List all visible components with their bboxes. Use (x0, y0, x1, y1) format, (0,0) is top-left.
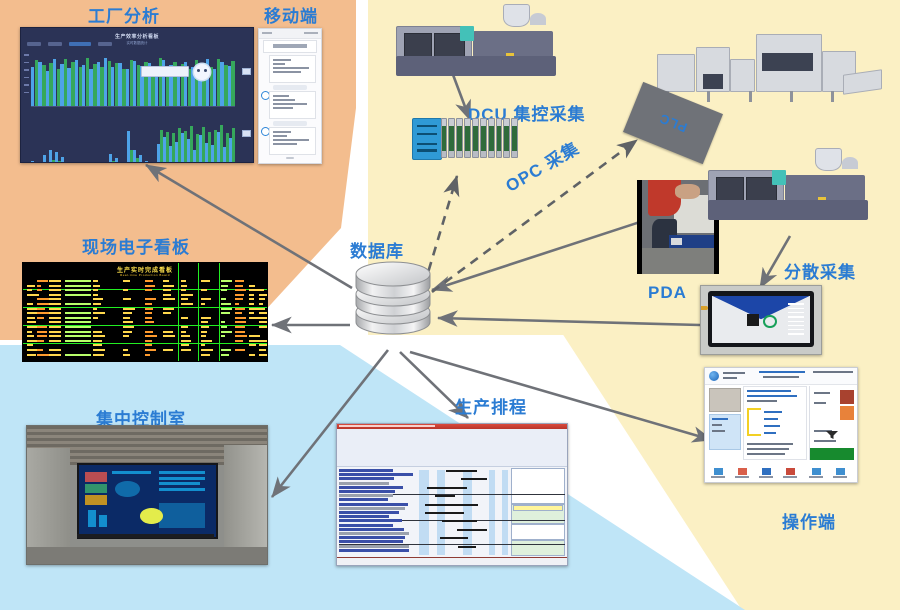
table-row[interactable] (339, 524, 393, 527)
board-cell (221, 331, 232, 333)
gantt-highlight-row (513, 505, 563, 511)
toolbar-icon[interactable] (711, 468, 725, 480)
board-cell (181, 317, 188, 319)
board-cell (93, 312, 105, 314)
board-cell (145, 321, 154, 323)
submit-button[interactable] (810, 448, 854, 460)
board-cell (145, 280, 153, 282)
board-cell (181, 340, 191, 342)
board-cell (201, 349, 213, 351)
board-cell (181, 289, 186, 291)
board-cell (65, 317, 91, 319)
board-cell (221, 289, 227, 291)
board-cell (163, 349, 173, 351)
qr-code-icon (747, 314, 759, 326)
board-cell (235, 349, 245, 351)
gantt-detail-table[interactable] (511, 468, 565, 504)
board-cell (49, 285, 61, 287)
board-cell (235, 303, 239, 305)
board-cell (49, 312, 61, 314)
gantt-shift-band (463, 470, 472, 555)
machine-warning-light (506, 53, 514, 56)
board-cell (93, 285, 100, 287)
board-cell (93, 331, 102, 333)
board-cell (259, 344, 267, 346)
board-cell (123, 354, 130, 356)
plc-label: PLC (657, 111, 690, 136)
table-row[interactable] (339, 540, 403, 543)
board-cell (93, 340, 102, 342)
board-cell (221, 303, 231, 305)
part-photo (709, 388, 741, 412)
machine-window (716, 177, 744, 202)
board-cell (123, 317, 130, 319)
board-cell (259, 294, 268, 296)
table-row[interactable] (339, 536, 405, 539)
board-cell (93, 344, 102, 346)
board-cell (93, 308, 97, 310)
table-row[interactable] (339, 545, 409, 548)
phone-time-chip (273, 85, 307, 90)
board-cell (249, 294, 254, 296)
toolbar-icon[interactable] (759, 468, 773, 480)
board-cell (93, 303, 101, 305)
board-cell (201, 335, 206, 337)
board-cell (181, 326, 188, 328)
list-item[interactable] (269, 55, 316, 83)
focus-bracket-icon (747, 408, 761, 436)
board-cell (163, 335, 175, 337)
machine-base (708, 200, 868, 220)
label-electronic-board: 现场电子看板 (82, 233, 190, 258)
board-cell (259, 349, 266, 351)
bar-group (169, 52, 176, 106)
board-cell (235, 317, 246, 319)
board-cell (221, 321, 225, 323)
phone-nav-bar[interactable] (263, 40, 317, 53)
board-cell (37, 331, 47, 333)
board-cell (235, 298, 243, 300)
board-column-line (219, 263, 220, 361)
table-row[interactable] (339, 519, 402, 522)
board-cell (37, 317, 44, 319)
board-cell (235, 294, 244, 296)
board-cell (181, 298, 188, 300)
board-cell (27, 303, 33, 305)
operator-terminal-window[interactable] (704, 367, 858, 483)
hopper-icon (503, 4, 531, 27)
electronic-board-screen: 生产实时完成看板 Real-time Production Board (22, 262, 268, 362)
list-item[interactable] (269, 127, 316, 155)
board-cell (123, 335, 129, 337)
board-cell (235, 326, 245, 328)
bar-group (220, 52, 227, 106)
board-cell (65, 303, 91, 305)
board-cell (221, 298, 226, 300)
board-cell (27, 331, 32, 333)
board-cell (249, 344, 256, 346)
board-cell (145, 285, 155, 287)
gantt-task-bar[interactable] (442, 520, 477, 522)
board-cell (235, 340, 243, 342)
board-cell (65, 321, 91, 323)
bar-group (104, 52, 111, 106)
board-cell (181, 331, 186, 333)
diagram-canvas: 工厂分析 移动端 现场电子看板 集中控制室 数据库 DCU 集控采集 OPC 采… (0, 0, 900, 610)
production-schedule-window[interactable] (336, 423, 568, 566)
board-cell (49, 280, 61, 282)
table-row[interactable] (339, 503, 408, 506)
toolbar-icon[interactable] (833, 468, 847, 480)
highlight-blob (140, 508, 163, 524)
bar-group (133, 52, 140, 106)
board-cell (145, 317, 152, 319)
board-cell (145, 349, 156, 351)
feeder-cone-icon (842, 157, 858, 169)
board-cell (49, 303, 61, 305)
dcu-io-slots (441, 118, 518, 158)
table-row[interactable] (339, 469, 393, 472)
label-mobile-terminal: 移动端 (264, 2, 318, 27)
table-row[interactable] (339, 477, 394, 480)
dashboard-mascot-icon (194, 64, 210, 80)
machine-base (396, 56, 556, 76)
bar-group (82, 52, 89, 106)
board-cell (49, 308, 61, 310)
bar-group (75, 52, 82, 106)
board-cell (49, 331, 61, 333)
gantt-task-bar[interactable] (435, 495, 455, 497)
board-cell (27, 308, 38, 310)
board-cell (27, 294, 39, 296)
board-cell (163, 289, 171, 291)
board-cell (65, 280, 91, 282)
table-row[interactable] (339, 490, 395, 493)
board-cell (37, 280, 48, 282)
board-cell (235, 331, 245, 333)
board-cell (249, 354, 255, 356)
table-row[interactable] (339, 486, 403, 489)
table-row[interactable] (339, 482, 389, 485)
board-cell (93, 289, 98, 291)
board-cell (123, 331, 132, 333)
phone-status-bar (259, 29, 321, 39)
gantt-task-bar[interactable] (461, 478, 487, 480)
board-cell (201, 354, 210, 356)
board-cell (201, 280, 210, 282)
pillar-right (224, 445, 267, 564)
board-column-line (178, 263, 179, 361)
gantt-task-bar[interactable] (440, 537, 468, 539)
hopper-icon (815, 148, 843, 171)
board-cell (163, 331, 173, 333)
board-cell (65, 340, 91, 342)
board-cell (249, 335, 260, 337)
board-cell (181, 280, 186, 282)
board-cell (201, 340, 212, 342)
board-cell (49, 321, 61, 323)
table-row[interactable] (339, 528, 404, 531)
board-cell (181, 294, 193, 296)
gantt-task-bar[interactable] (425, 512, 464, 514)
toolbar-icon[interactable] (735, 468, 749, 480)
board-cell (163, 298, 175, 300)
dashboard-legend-top[interactable] (242, 68, 251, 75)
board-cell (201, 317, 211, 319)
board-cell (37, 303, 49, 305)
gantt-summary-panel (511, 540, 565, 556)
board-cell (235, 335, 247, 337)
board-cell (65, 354, 91, 356)
board-cell (221, 335, 225, 337)
toolbar-icon[interactable] (809, 468, 823, 480)
distributed-collection-tablet[interactable] (700, 285, 822, 355)
tablet-screen[interactable] (712, 296, 809, 343)
board-cell (249, 308, 259, 310)
bar-group (38, 52, 45, 106)
table-row[interactable] (339, 532, 409, 535)
bar-group (177, 52, 184, 106)
label-factory-analysis: 工厂分析 (88, 2, 160, 27)
board-cell (259, 312, 268, 314)
board-cell (145, 303, 152, 305)
board-cell (259, 354, 268, 356)
board-cell (145, 312, 152, 314)
board-cell (259, 340, 268, 342)
board-cell (93, 298, 103, 300)
list-item[interactable] (269, 91, 316, 119)
data-table (159, 503, 206, 529)
board-cell (163, 308, 174, 310)
board-cell (65, 285, 91, 287)
board-cell (49, 298, 61, 300)
gantt-shift-band (489, 470, 495, 555)
bar-group (46, 52, 53, 106)
gantt-column-header (337, 459, 567, 467)
board-cell (163, 294, 171, 296)
board-cell (37, 308, 45, 310)
dashboard-subtitle: 实时数据统计 (127, 41, 148, 46)
toolbar-icon[interactable] (783, 468, 797, 480)
bar-group (53, 52, 60, 106)
board-cell (201, 321, 208, 323)
injection-machine-right (708, 162, 868, 220)
gantt-shift-band (502, 470, 508, 555)
gantt-task-bar[interactable] (458, 546, 476, 548)
gantt-info-panel (511, 524, 565, 540)
floor (27, 547, 267, 564)
board-cell (181, 335, 190, 337)
label-distributed-collection: 分散采集 (784, 258, 856, 283)
board-cell (65, 294, 91, 296)
board-cell (37, 326, 47, 328)
board-cell (249, 312, 254, 314)
gantt-task-bar[interactable] (427, 487, 467, 489)
board-cell (163, 312, 171, 314)
board-cell (37, 335, 47, 337)
board-cell (49, 294, 61, 296)
board-cell (37, 312, 49, 314)
kpi-card (85, 472, 107, 481)
board-cell (123, 298, 131, 300)
bar-group (67, 52, 74, 106)
globe-icon (709, 371, 719, 381)
board-cell (259, 303, 263, 305)
kpi-card (85, 484, 107, 493)
arrow-pda-to-db (432, 222, 640, 290)
board-cell (221, 354, 229, 356)
dashboard-legend-bottom[interactable] (242, 130, 251, 137)
machine-warning-light (818, 197, 826, 200)
bar-group (60, 52, 67, 106)
board-cell (37, 349, 43, 351)
board-cell (37, 354, 49, 356)
operator-header (705, 368, 857, 385)
board-cell (93, 349, 105, 351)
led-wall-stand (77, 534, 214, 538)
machine-hmi-panel (772, 170, 786, 185)
board-cell (49, 289, 61, 291)
board-cell (37, 340, 44, 342)
dashboard-chart-bottom (31, 120, 235, 163)
bar-group (97, 52, 104, 106)
board-cell (249, 340, 259, 342)
board-cell (259, 326, 267, 328)
table-row[interactable] (339, 549, 409, 552)
board-cell (235, 280, 244, 282)
board-cell (221, 312, 230, 314)
bar-group (89, 52, 96, 106)
board-cell (221, 349, 231, 351)
board-cell (65, 335, 91, 337)
avatar (840, 406, 854, 420)
board-cell (123, 326, 134, 328)
board-cell (93, 317, 98, 319)
board-cell (235, 312, 242, 314)
tablet-bezel (708, 291, 814, 347)
board-cell (145, 340, 152, 342)
handheld-pda-device (671, 238, 683, 245)
bar-group (162, 52, 169, 106)
board-cell (123, 308, 135, 310)
board-cell (145, 331, 153, 333)
board-cell (65, 326, 91, 328)
board-cell (201, 303, 205, 305)
board-cell (259, 321, 268, 323)
phone-app-title (273, 44, 307, 48)
phone-home-indicator (286, 157, 294, 159)
board-cell (27, 285, 35, 287)
factory-analysis-dashboard[interactable]: 生产效率分析看板 实时数据统计 (20, 27, 254, 163)
board-cell (49, 335, 61, 337)
table-row[interactable] (339, 473, 413, 476)
board-cell (145, 308, 153, 310)
board-cell (181, 344, 189, 346)
dcu-module-icon (412, 118, 518, 158)
machine-hmi-panel (460, 26, 474, 41)
board-cell (93, 354, 104, 356)
board-cell (259, 317, 267, 319)
machine-window (404, 33, 432, 58)
board-cell (259, 298, 265, 300)
board-cell (145, 298, 156, 300)
board-cell (27, 344, 33, 346)
board-cell (123, 321, 133, 323)
board-cell (163, 280, 169, 282)
board-cell (93, 294, 98, 296)
gantt-task-bar[interactable] (446, 470, 476, 472)
table-row[interactable] (339, 515, 389, 518)
control-room-photo (26, 425, 268, 565)
kpi-card (85, 495, 107, 504)
board-cell (163, 285, 174, 287)
mobile-terminal-screen[interactable] (258, 28, 322, 164)
feeder-cone-icon (530, 13, 546, 25)
board-cell (123, 289, 128, 291)
dcu-cpu-icon (412, 118, 442, 160)
board-cell (65, 312, 91, 314)
table-row[interactable] (339, 507, 405, 510)
bar-group (111, 52, 118, 106)
board-cell (181, 303, 193, 305)
board-cell (145, 354, 150, 356)
board-cell (249, 298, 254, 300)
brand-logo-icon (763, 315, 777, 328)
table-row[interactable] (339, 494, 393, 497)
bar-group (206, 52, 213, 106)
table-row[interactable] (339, 498, 388, 501)
tablet-side-list (788, 303, 804, 326)
antenna-icon (700, 306, 708, 309)
board-cell (181, 285, 187, 287)
board-cell (27, 321, 36, 323)
board-cell (65, 289, 91, 291)
board-cell (221, 308, 232, 310)
bar-group (184, 52, 191, 106)
board-cell (249, 285, 255, 287)
board-subtitle: Real-time Production Board (120, 273, 170, 277)
arrow-tablet-to-db (438, 318, 700, 325)
gantt-task-bar[interactable] (457, 529, 486, 531)
board-cell (221, 326, 227, 328)
board-cell (123, 349, 128, 351)
board-cell (201, 289, 207, 291)
gantt-status-bar (337, 557, 567, 565)
label-production-schedule: 生产排程 (455, 393, 527, 418)
board-cell (49, 340, 61, 342)
board-cell (27, 289, 32, 291)
table-row[interactable] (339, 511, 399, 514)
board-cell (201, 326, 209, 328)
board-cell (221, 280, 232, 282)
dashboard-filter-bar[interactable] (27, 42, 112, 46)
gantt-task-bar[interactable] (425, 504, 478, 506)
operator-info-panel (709, 414, 741, 450)
board-cell (93, 280, 98, 282)
board-cell (123, 280, 130, 282)
database-icon[interactable] (350, 258, 436, 342)
avatar (840, 390, 854, 404)
board-cell (27, 354, 36, 356)
board-cell (145, 344, 152, 346)
board-cell (145, 335, 157, 337)
bar-group (148, 52, 155, 106)
bar-group (118, 52, 125, 106)
bar-group (31, 52, 38, 106)
label-pda: PDA (648, 283, 687, 303)
dashboard-tooltip (141, 66, 189, 77)
bar-group (140, 52, 147, 106)
